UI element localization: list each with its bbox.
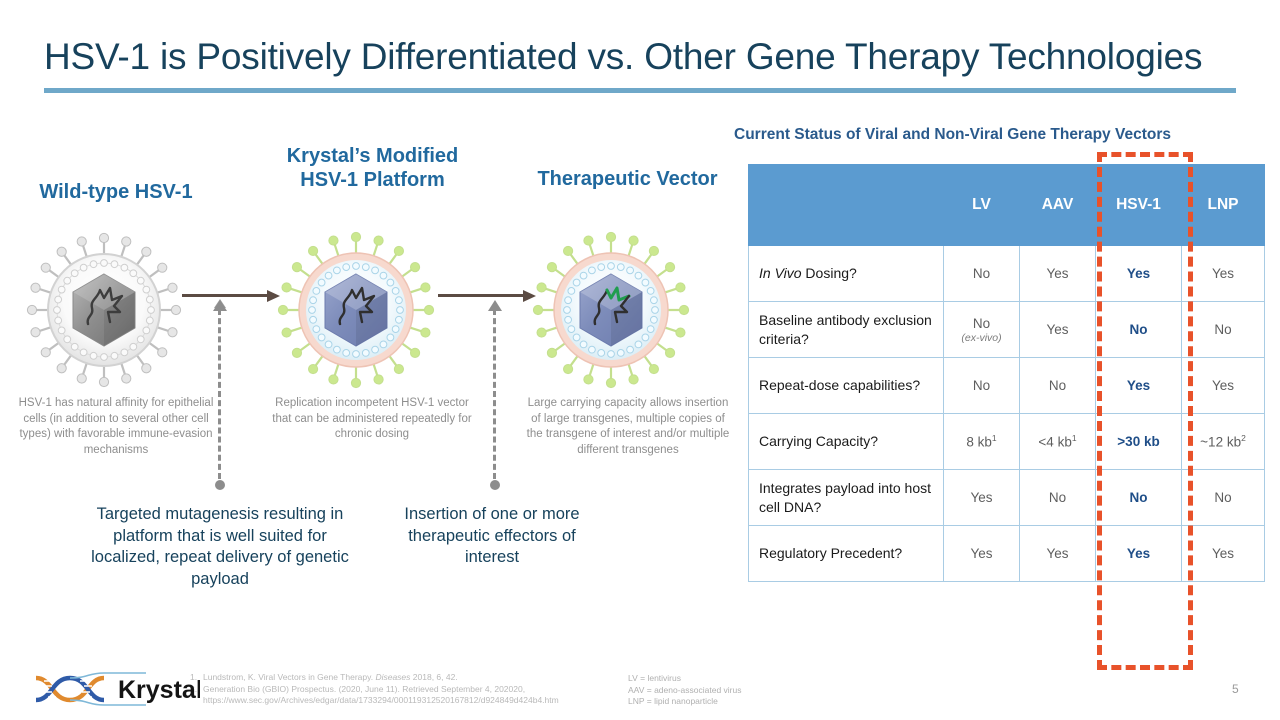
callout-targeted-mutagenesis: Targeted mutagenesis resulting in platfo… xyxy=(88,504,352,590)
table-cell-aav: Yes xyxy=(1020,526,1096,582)
table-cell-lnp: Yes xyxy=(1182,246,1265,302)
arrow-head xyxy=(267,290,280,302)
table-cell-lnp: No xyxy=(1182,470,1265,526)
connector-dot xyxy=(215,480,225,490)
table-cell-criterion: Repeat-dose capabilities? xyxy=(749,358,944,414)
virus-icon-wild-type-hsv1 xyxy=(20,226,188,394)
page-title: HSV-1 is Positively Differentiated vs. O… xyxy=(44,36,1244,78)
table-cell-criterion: Carrying Capacity? xyxy=(749,414,944,470)
table-cell-criterion: In Vivo Dosing? xyxy=(749,246,944,302)
stage-heading-wild-type: Wild-type HSV-1 xyxy=(6,180,226,204)
arrow-wild-to-modified xyxy=(182,290,280,302)
logo-wordmark: Krystal xyxy=(118,676,200,704)
table-cell-criterion: Regulatory Precedent? xyxy=(749,526,944,582)
table-cell-lnp: ~12 kb2 xyxy=(1182,414,1265,470)
footnote-ref: 1 xyxy=(1072,433,1077,443)
hsv1-column-highlight-box xyxy=(1097,152,1193,670)
cell-subnote: (ex-vivo) xyxy=(944,332,1019,344)
criterion-italic-part: In Vivo xyxy=(759,265,802,281)
table-header-lv: LV xyxy=(944,165,1020,246)
arrow-head xyxy=(523,290,536,302)
table-cell-lv: No xyxy=(944,246,1020,302)
table-cell-lv: No xyxy=(944,358,1020,414)
arrow-modified-to-vector xyxy=(438,290,536,302)
table-header-aav: AAV xyxy=(1020,165,1096,246)
connector-dot xyxy=(490,480,500,490)
table-cell-aav: Yes xyxy=(1020,302,1096,358)
footnote-item: 2.Generation Bio (GBIO) Prospectus. (202… xyxy=(190,684,620,707)
footnote-text: Generation Bio (GBIO) Prospectus. (2020,… xyxy=(203,684,620,707)
krystal-logo: Krystal xyxy=(30,668,200,710)
callout-insertion-of-effectors: Insertion of one or more therapeutic eff… xyxy=(392,504,592,569)
virus-icon-therapeutic-vector xyxy=(527,226,695,394)
stage-heading-therapeutic-vector: Therapeutic Vector xyxy=(530,167,725,191)
arrow-shaft xyxy=(438,294,524,297)
footnote-ref: 2 xyxy=(1241,433,1246,443)
table-title: Current Status of Viral and Non-Viral Ge… xyxy=(734,126,1274,144)
stage-heading-modified-platform: Krystal’s Modified HSV-1 Platform xyxy=(275,144,470,192)
connector-line xyxy=(493,309,496,479)
table-cell-aav: No xyxy=(1020,470,1096,526)
abbreviation-legend: LV = lentivirusAAV = adeno-associated vi… xyxy=(628,673,828,708)
table-cell-lnp: Yes xyxy=(1182,358,1265,414)
table-cell-criterion: Baseline antibody exclusion criteria? xyxy=(749,302,944,358)
table-cell-criterion: Integrates payload into host cell DNA? xyxy=(749,470,944,526)
legend-line: AAV = adeno-associated virus xyxy=(628,685,828,697)
table-cell-aav: Yes xyxy=(1020,246,1096,302)
table-cell-aav: No xyxy=(1020,358,1096,414)
table-cell-aav: <4 kb1 xyxy=(1020,414,1096,470)
virus-icon-modified-hsv1-platform xyxy=(272,226,440,394)
legend-line: LNP = lipid nanoparticle xyxy=(628,696,828,708)
footnote-ref: 1 xyxy=(992,433,997,443)
table-cell-lv: Yes xyxy=(944,526,1020,582)
table-header-lnp: LNP xyxy=(1182,165,1265,246)
arrow-shaft xyxy=(182,294,268,297)
stage-description-modified-platform: Replication incompetent HSV-1 vector tha… xyxy=(272,396,472,443)
table-cell-lv: No(ex-vivo) xyxy=(944,302,1020,358)
table-cell-lv: 8 kb1 xyxy=(944,414,1020,470)
stage-description-therapeutic-vector: Large carrying capacity allows insertion… xyxy=(522,396,734,458)
legend-line: LV = lentivirus xyxy=(628,673,828,685)
page-number: 5 xyxy=(1232,682,1239,696)
slide: HSV-1 is Positively Differentiated vs. O… xyxy=(0,0,1280,720)
title-underline-rule xyxy=(44,88,1236,93)
dashed-connector-right xyxy=(488,300,502,490)
footnote-text: Lundstrom, K. Viral Vectors in Gene Ther… xyxy=(203,672,620,684)
stage-description-wild-type: HSV-1 has natural affinity for epithelia… xyxy=(16,396,216,458)
table-cell-lnp: Yes xyxy=(1182,526,1265,582)
table-cell-lv: Yes xyxy=(944,470,1020,526)
footnotes: 1.Lundstrom, K. Viral Vectors in Gene Th… xyxy=(190,672,620,707)
connector-line xyxy=(218,309,221,479)
table-header-blank xyxy=(749,165,944,246)
footnote-journal: Diseases xyxy=(375,672,410,682)
table-cell-lnp: No xyxy=(1182,302,1265,358)
footnote-item: 1.Lundstrom, K. Viral Vectors in Gene Th… xyxy=(190,672,620,684)
dashed-connector-left xyxy=(213,300,227,490)
